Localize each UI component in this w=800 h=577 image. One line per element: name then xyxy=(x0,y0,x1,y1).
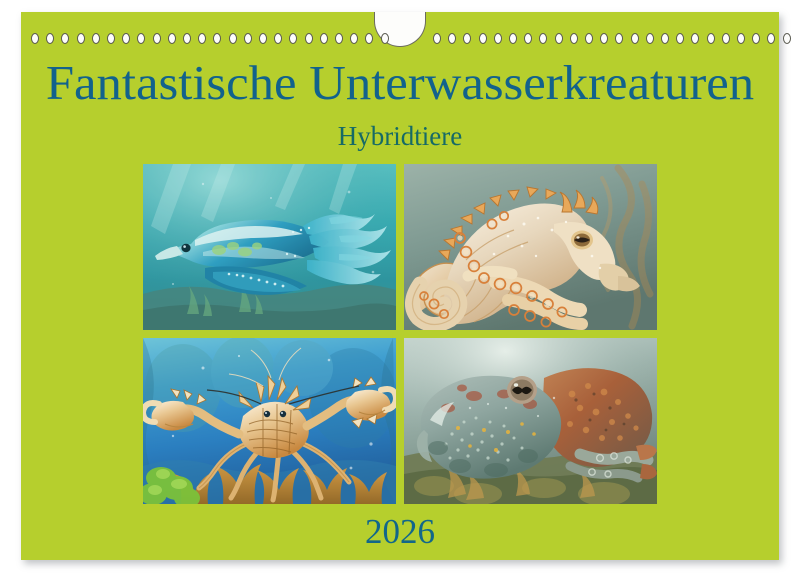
punch-hole xyxy=(320,33,328,44)
photo-seahorse-octopus-art xyxy=(404,164,657,330)
punch-hole xyxy=(183,33,191,44)
punch-hole xyxy=(433,33,441,44)
punch-hole xyxy=(168,33,176,44)
punch-hole xyxy=(259,33,267,44)
punch-hole xyxy=(122,33,130,44)
punch-hole xyxy=(274,33,282,44)
photo-seahorse-octopus xyxy=(404,164,657,330)
photo-cuttlefish-crab-art xyxy=(404,338,657,504)
photo-grid xyxy=(143,164,657,504)
punch-hole xyxy=(600,33,608,44)
punch-hole xyxy=(244,33,252,44)
punch-hole xyxy=(229,33,237,44)
punch-hole xyxy=(494,33,502,44)
punch-hole xyxy=(381,33,389,44)
punch-hole xyxy=(92,33,100,44)
punch-hole xyxy=(676,33,684,44)
punch-hole xyxy=(509,33,517,44)
punch-hole xyxy=(46,33,54,44)
punch-hole xyxy=(350,33,358,44)
punch-hole xyxy=(631,33,639,44)
punch-hole xyxy=(707,33,715,44)
punch-hole xyxy=(570,33,578,44)
punch-hole xyxy=(752,33,760,44)
punch-hole xyxy=(737,33,745,44)
punch-hole xyxy=(661,33,669,44)
punch-hole xyxy=(767,33,775,44)
calendar-year: 2026 xyxy=(21,512,779,552)
punch-hole xyxy=(335,33,343,44)
photo-crab-lobster xyxy=(143,338,396,504)
punch-hole xyxy=(646,33,654,44)
punch-hole xyxy=(198,33,206,44)
punch-hole xyxy=(77,33,85,44)
punch-hole xyxy=(524,33,532,44)
punch-hole xyxy=(555,33,563,44)
punch-hole xyxy=(585,33,593,44)
punch-hole xyxy=(722,33,730,44)
punch-hole xyxy=(305,33,313,44)
calendar-subtitle: Hybridtiere xyxy=(21,120,779,152)
punch-hole xyxy=(289,33,297,44)
calendar-title: Fantastische Unterwasserkreaturen xyxy=(8,55,793,111)
punch-hole xyxy=(107,33,115,44)
calendar-cover-sheet: Fantastische Unterwasserkreaturen Hybrid… xyxy=(21,12,779,560)
punch-hole xyxy=(213,33,221,44)
punch-hole xyxy=(31,33,39,44)
punch-hole xyxy=(153,33,161,44)
punch-hole xyxy=(479,33,487,44)
punch-hole xyxy=(137,33,145,44)
photo-cuttlefish-crab xyxy=(404,338,657,504)
punch-hole xyxy=(463,33,471,44)
photo-squid-dolphin xyxy=(143,164,396,330)
punch-hole xyxy=(615,33,623,44)
punch-hole xyxy=(61,33,69,44)
punch-hole xyxy=(539,33,547,44)
punch-hole xyxy=(448,33,456,44)
page-background: Fantastische Unterwasserkreaturen Hybrid… xyxy=(0,0,800,577)
binding-punch-strip xyxy=(21,12,779,52)
hanger-tab xyxy=(374,12,426,47)
punch-hole xyxy=(365,33,373,44)
photo-squid-dolphin-art xyxy=(143,164,396,330)
punch-hole xyxy=(783,33,791,44)
photo-crab-lobster-art xyxy=(143,338,396,504)
punch-hole xyxy=(691,33,699,44)
